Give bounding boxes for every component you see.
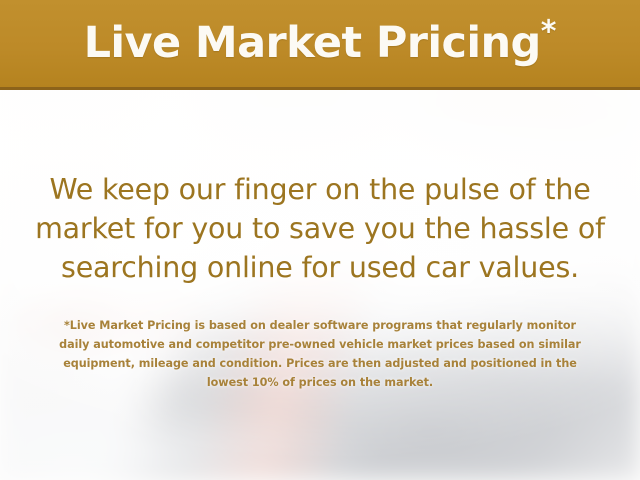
disclaimer-line-3: equipment, mileage and condition. Prices… (0, 354, 640, 373)
headline-line-2: market for you to save you the hassle of (0, 209, 640, 248)
title-asterisk-icon: * (541, 15, 557, 50)
page-title-text: Live Market Pricing (84, 18, 541, 68)
headline-line-1: We keep our finger on the pulse of the (0, 170, 640, 209)
header-banner: Live Market Pricing* (0, 0, 640, 90)
disclaimer-block: *Live Market Pricing is based on dealer … (0, 316, 640, 392)
disclaimer-line-4: lowest 10% of prices on the market. (0, 373, 640, 392)
page-title: Live Market Pricing* (84, 22, 557, 65)
live-market-pricing-slide: Live Market Pricing* We keep our finger … (0, 0, 640, 480)
headline-line-3: searching online for used car values. (0, 248, 640, 287)
disclaimer-line-1: *Live Market Pricing is based on dealer … (0, 316, 640, 335)
disclaimer-line-2: daily automotive and competitor pre-owne… (0, 335, 640, 354)
headline-block: We keep our finger on the pulse of the m… (0, 170, 640, 287)
